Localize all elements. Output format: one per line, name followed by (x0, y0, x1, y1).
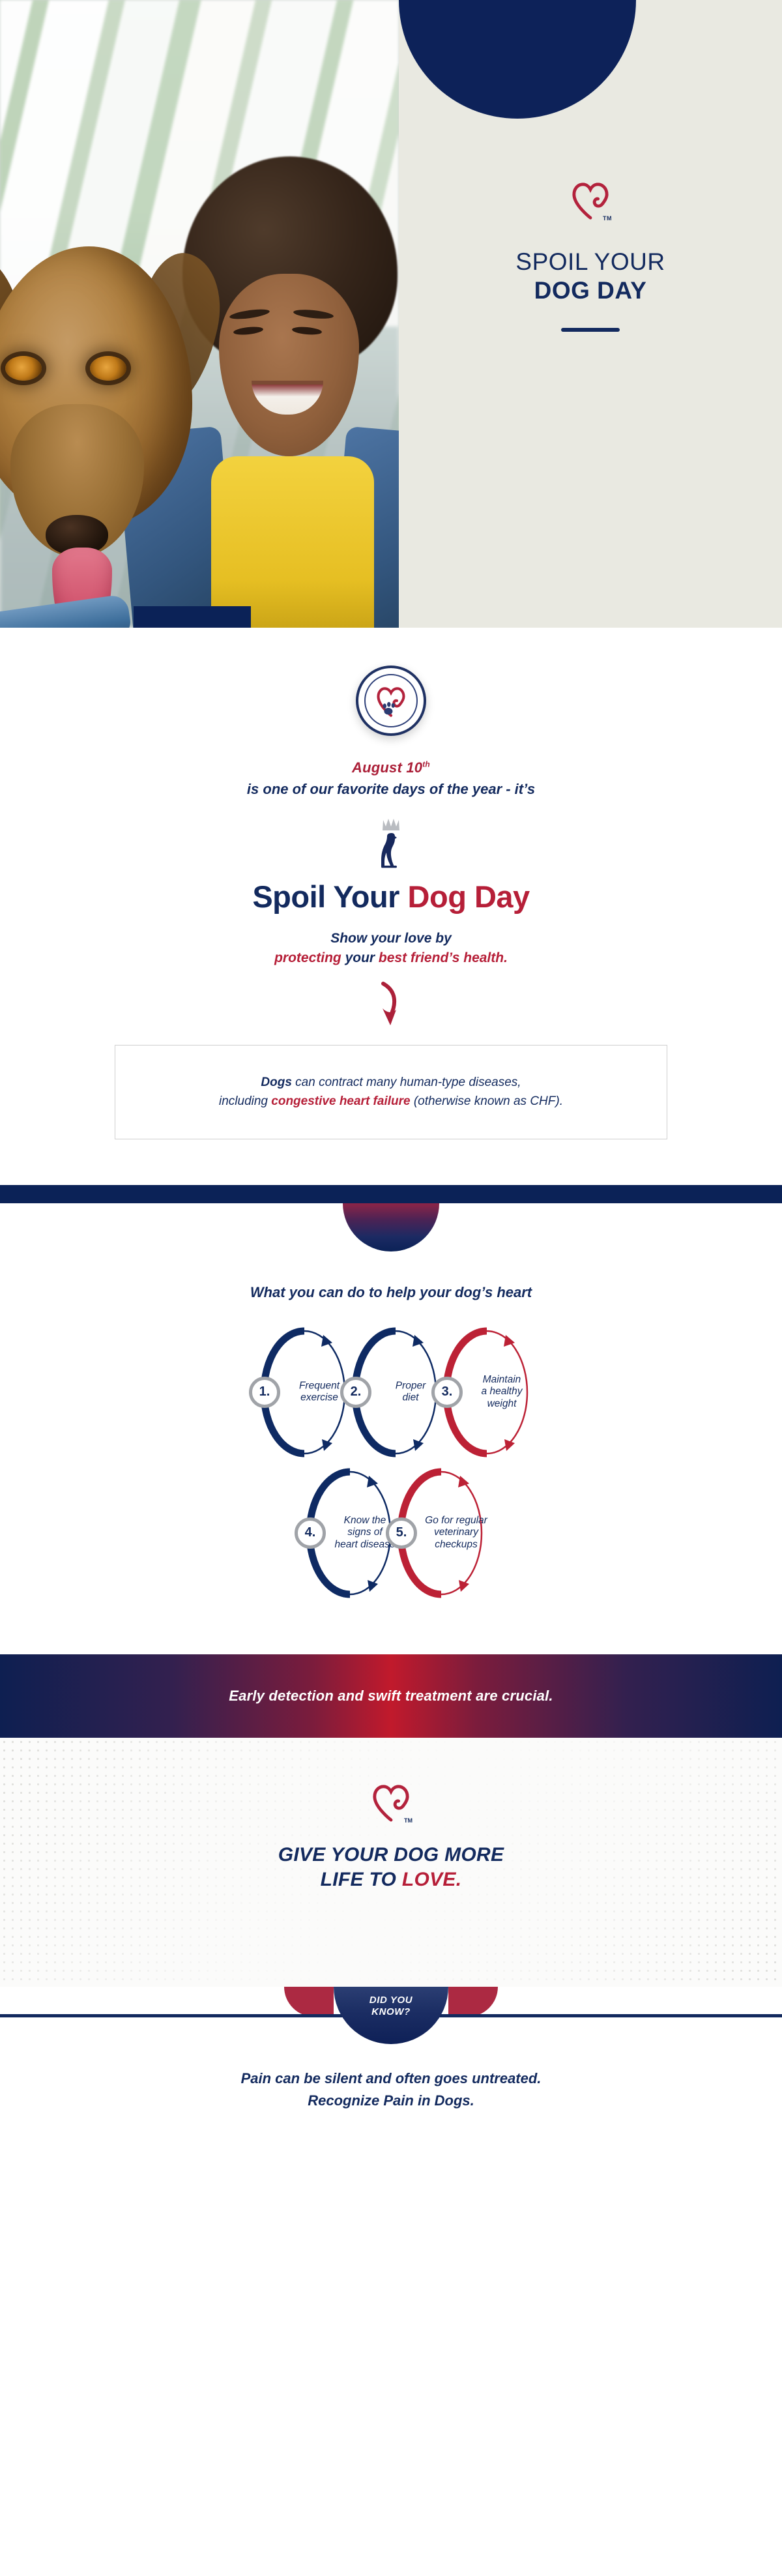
steps-row-bottom: Know thesigns ofheart disease 4. Go for … (0, 1468, 782, 1598)
did-you-know-badge: DID YOUKNOW? (334, 1987, 448, 2044)
main-headline: Spoil Your Dog Day (0, 879, 782, 915)
closing-line1: Pain can be silent and often goes untrea… (0, 2068, 782, 2090)
page-title: SPOIL YOUR DOG DAY (515, 248, 665, 304)
banner-text: Early detection and swift treatment are … (229, 1688, 553, 1705)
fact-chf-rest: (otherwise known as CHF). (411, 1094, 563, 1108)
tagline-line2-navy: LIFE TO (321, 1869, 402, 1890)
tagline-text: GIVE YOUR DOG MORE LIFE TO LOVE. (0, 1843, 782, 1893)
heart-logo-icon: TM (570, 181, 611, 220)
show-love-text: Show your love by protecting your best f… (0, 929, 782, 968)
did-you-know-header: DID YOUKNOW? (0, 1987, 782, 2018)
dog-eye-left (5, 356, 42, 381)
date-value: August 10 (352, 759, 422, 776)
dog-figure (0, 241, 228, 628)
fact-chf-term: congestive heart failure (271, 1094, 410, 1108)
step-number: 2. (340, 1377, 371, 1408)
step-number: 1. (249, 1377, 280, 1408)
intro-subline: is one of our favorite days of the year … (0, 781, 782, 798)
fact-line-1: Dogs can contract many human-type diseas… (135, 1073, 647, 1092)
fact-line1-rest: can contract many human-type diseases, (292, 1076, 521, 1089)
steps-section: What you can do to help your dog’s heart… (0, 1211, 782, 1624)
step-item[interactable]: Go for regularveterinarycheckups 5. (387, 1468, 486, 1598)
hero-section: TM SPOIL YOUR DOG DAY (0, 0, 782, 628)
yellow-shirt (211, 456, 374, 628)
tagline-line1: GIVE YOUR DOG MORE (0, 1843, 782, 1867)
tagline-line2-red: LOVE. (402, 1869, 462, 1890)
hero-divider-rule (561, 328, 620, 332)
hero-title-line2: DOG DAY (515, 276, 665, 305)
tagline-content: TM GIVE YOUR DOG MORE LIFE TO LOVE. (0, 1783, 782, 1893)
intro-section: August 10th is one of our favorite days … (0, 628, 782, 1139)
early-detection-banner: Early detection and swift treatment are … (0, 1654, 782, 1738)
step-number: 4. (295, 1517, 326, 1549)
headline-navy-part: Spoil Your (252, 879, 407, 914)
person-face (219, 274, 359, 456)
red-wing-right (448, 1987, 498, 2017)
navy-ribbon-tab (134, 606, 251, 628)
date-label: August 10th (0, 759, 782, 776)
hero-title-line1: SPOIL YOUR (515, 248, 665, 276)
closing-line2: Recognize Pain in Dogs. (0, 2090, 782, 2112)
show-love-health: best friend’s health. (379, 950, 508, 965)
badge-text: DID YOUKNOW? (369, 1995, 413, 2019)
heart-paw-stamp-icon (356, 666, 426, 736)
fact-line-2: including congestive heart failure (othe… (135, 1092, 647, 1111)
curved-down-arrow-icon (373, 980, 409, 1029)
dog-eye-right (90, 356, 126, 381)
steps-row-top: Frequentexercise 1. Properdiet 2. Mainta… (0, 1327, 782, 1457)
hero-content: TM SPOIL YOUR DOG DAY (399, 0, 782, 628)
hero-photo (0, 0, 399, 628)
show-love-your: your (341, 950, 379, 965)
tagline-section: TM GIVE YOUR DOG MORE LIFE TO LOVE. (0, 1738, 782, 1987)
crowned-dog-silhouette-icon (370, 816, 412, 871)
badge-line2: KNOW? (371, 2006, 411, 2017)
heart-logo-icon: TM (371, 1783, 411, 1822)
closing-text: Pain can be silent and often goes untrea… (0, 2068, 782, 2112)
fact-callout-box: Dogs can contract many human-type diseas… (115, 1045, 667, 1139)
step-label: Maintaina healthyweight (461, 1374, 542, 1411)
red-wing-left (284, 1987, 334, 2017)
step-item[interactable]: Properdiet 2. (341, 1327, 441, 1457)
trademark-mark: TM (404, 1817, 413, 1824)
steps-heading: What you can do to help your dog’s heart (0, 1284, 782, 1301)
show-love-protecting: protecting (274, 950, 341, 965)
step-item[interactable]: Frequentexercise 1. (250, 1327, 349, 1457)
show-love-line1: Show your love by (0, 929, 782, 948)
fact-dogs: Dogs (261, 1076, 292, 1089)
section-divider-band (0, 1185, 782, 1211)
navy-band (0, 1185, 782, 1203)
date-suffix: th (422, 760, 430, 769)
step-item[interactable]: Know thesigns ofheart disease 4. (296, 1468, 395, 1598)
step-number: 3. (431, 1377, 463, 1408)
trademark-mark: TM (603, 215, 612, 222)
headline-red-part: Dog Day (408, 879, 530, 914)
step-label: Go for regularveterinarycheckups (416, 1515, 497, 1551)
step-number: 5. (386, 1517, 417, 1549)
fact-including: including (219, 1094, 271, 1108)
intro-text-block: August 10th is one of our favorite days … (0, 759, 782, 798)
step-item[interactable]: Maintaina healthyweight 3. (433, 1327, 532, 1457)
badge-line1: DID YOU (369, 1995, 413, 2006)
